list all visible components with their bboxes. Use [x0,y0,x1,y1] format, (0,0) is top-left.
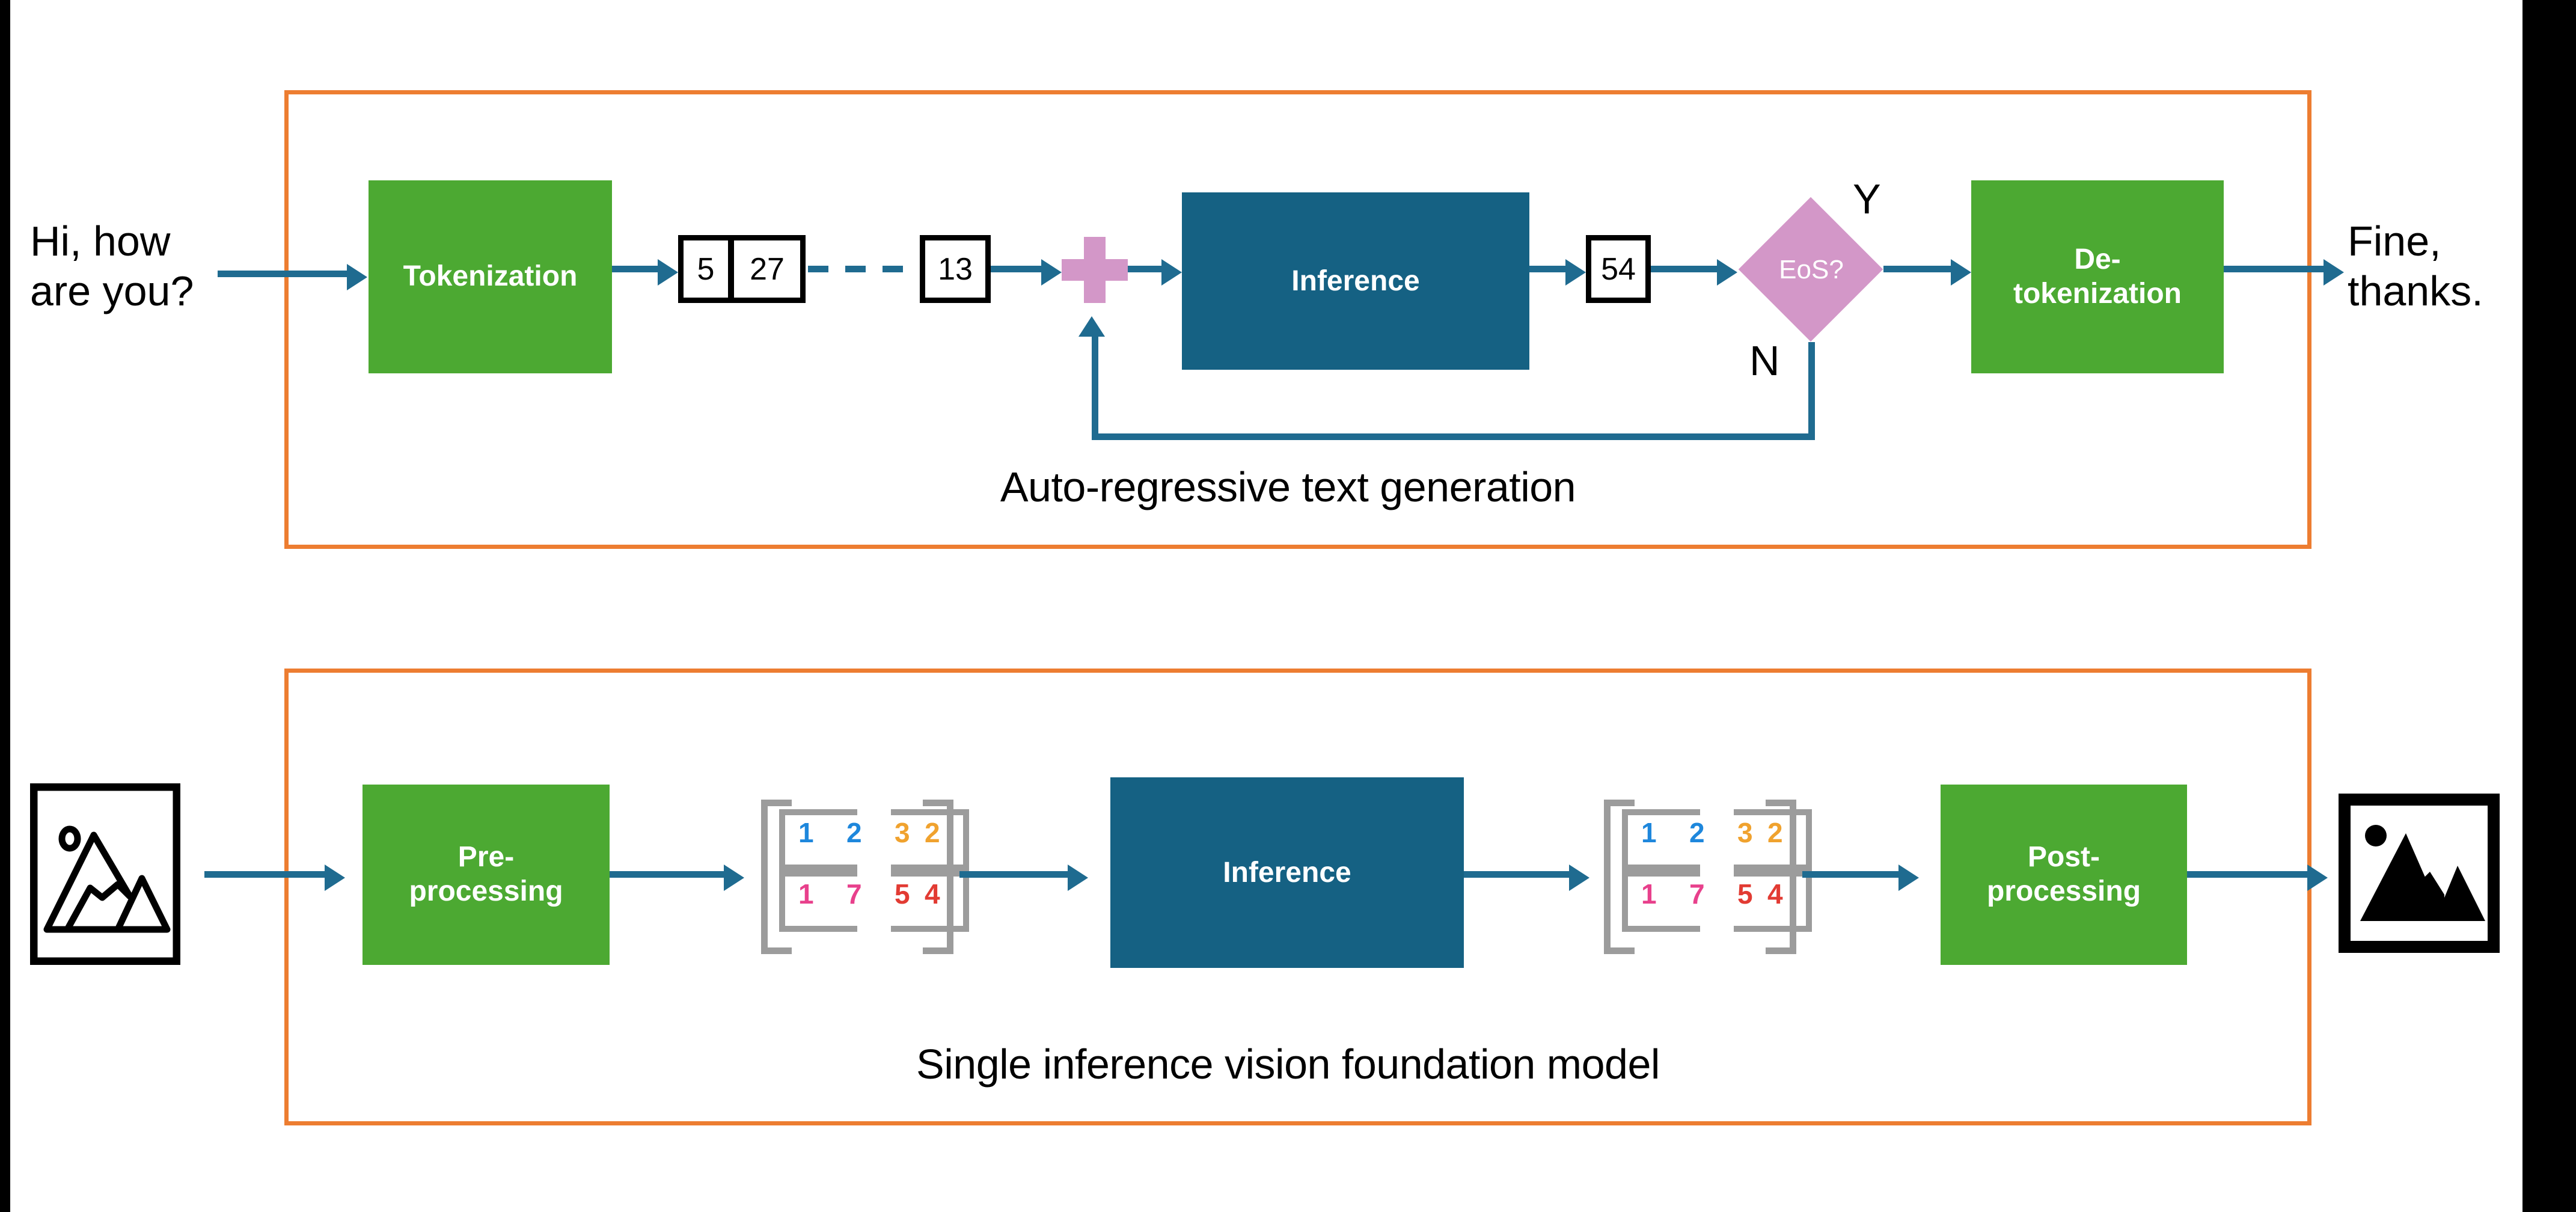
tensor-value: 5 [895,878,910,910]
tensor-value: 2 [846,816,862,849]
arrow-tensor-to-postprocessing [1802,871,1898,878]
tensor-value: 7 [1689,878,1705,910]
detokenization-block[interactable]: De- tokenization [1971,180,2224,373]
image-outline-icon [30,783,180,965]
tensor-value: 3 [895,816,910,849]
arrowhead-preprocessing-to-tensor [724,865,744,891]
arrowhead-prompt-to-tokenization [347,264,367,290]
branch-label-no: N [1749,337,1780,385]
tensor-value: 2 [1767,816,1783,849]
arrowhead-feedback-to-merge [1078,316,1105,337]
branch-label-yes: Y [1853,175,1881,223]
feedback-loop-up-segment [1092,337,1098,436]
tensor-value: 1 [798,878,814,910]
arrow-image-to-preprocessing [204,871,325,878]
arrowhead-inference-to-output-tensor [1569,865,1589,891]
arrowhead-image-to-preprocessing [325,865,345,891]
arrowhead-inference-to-output-token [1565,259,1586,286]
tensor-value: 1 [1641,878,1657,910]
arrow-tokenization-to-tokens [612,266,658,272]
arrowhead-tokenization-to-tokens [658,259,678,286]
tensor-inner-bracket [1622,871,1700,932]
tensor-value: 2 [1689,816,1705,849]
arrowhead-tensor-to-inference [1068,865,1088,891]
arrow-postprocessing-to-output-image [2187,871,2307,878]
inference-block-vision[interactable]: Inference [1110,777,1464,968]
tensor-value: 3 [1737,816,1753,849]
arrowhead-postprocessing-to-output-image [2307,865,2328,891]
tensor-value: 2 [925,816,940,849]
token-sequence-ellipsis [808,266,920,272]
input-tensor: 12321754 [761,800,953,941]
arrowhead-eos-yes-to-detokenization [1951,259,1971,286]
output-response-text: Fine, thanks. [2348,216,2546,316]
tensor-inner-bracket [779,809,857,871]
tensor-value: 5 [1737,878,1753,910]
arrow-token-to-eos [1651,266,1717,272]
tensor-value: 1 [1641,816,1657,849]
arrow-eos-yes-to-detokenization [1883,266,1951,272]
tensor-value: 7 [846,878,862,910]
arrow-tokens-to-merge [991,266,1041,272]
arrow-detokenization-to-output [2224,266,2324,272]
tokenization-block[interactable]: Tokenization [369,180,612,373]
arrow-inference-to-output-token [1529,266,1565,272]
input-prompt-text: Hi, how are you? [30,216,259,316]
preprocessing-block[interactable]: Pre- processing [363,785,610,965]
image-filled-icon [2339,794,2500,953]
inference-block-text[interactable]: Inference [1182,192,1529,370]
tensor-value: 1 [798,816,814,849]
arrow-inference-to-output-tensor [1464,871,1569,878]
token-box-2: 27 [731,235,806,303]
arrow-preprocessing-to-tensor [610,871,724,878]
arrow-merge-to-inference [1128,266,1161,272]
postprocessing-block[interactable]: Post- processing [1941,785,2187,965]
panel-caption-vision: Single inference vision foundation model [0,1040,2576,1088]
token-box-3: 13 [920,235,991,303]
token-box-1: 5 [678,235,731,303]
plus-icon [1062,237,1128,303]
tensor-value: 4 [925,878,940,910]
arrowhead-tensor-to-postprocessing [1898,865,1919,891]
arrowhead-detokenization-to-output [2324,259,2344,286]
arrow-prompt-to-tokenization [218,271,347,277]
tensor-inner-bracket [1622,809,1700,871]
left-black-bar [0,0,10,1212]
right-black-bar [2522,0,2576,1212]
output-tensor: 12321754 [1604,800,1796,941]
arrow-tensor-to-inference [959,871,1068,878]
arrowhead-merge-to-inference [1161,259,1182,286]
tensor-inner-bracket [779,871,857,932]
arrowhead-tokens-to-merge [1041,259,1062,286]
feedback-loop-down-segment [1808,342,1815,440]
plus-icon-horizontal [1062,259,1128,281]
tensor-value: 4 [1767,878,1783,910]
panel-caption-text: Auto-regressive text generation [0,463,2576,511]
feedback-loop-horizontal-segment [1092,433,1815,440]
arrowhead-token-to-eos [1717,259,1737,286]
output-token-box: 54 [1586,235,1651,303]
